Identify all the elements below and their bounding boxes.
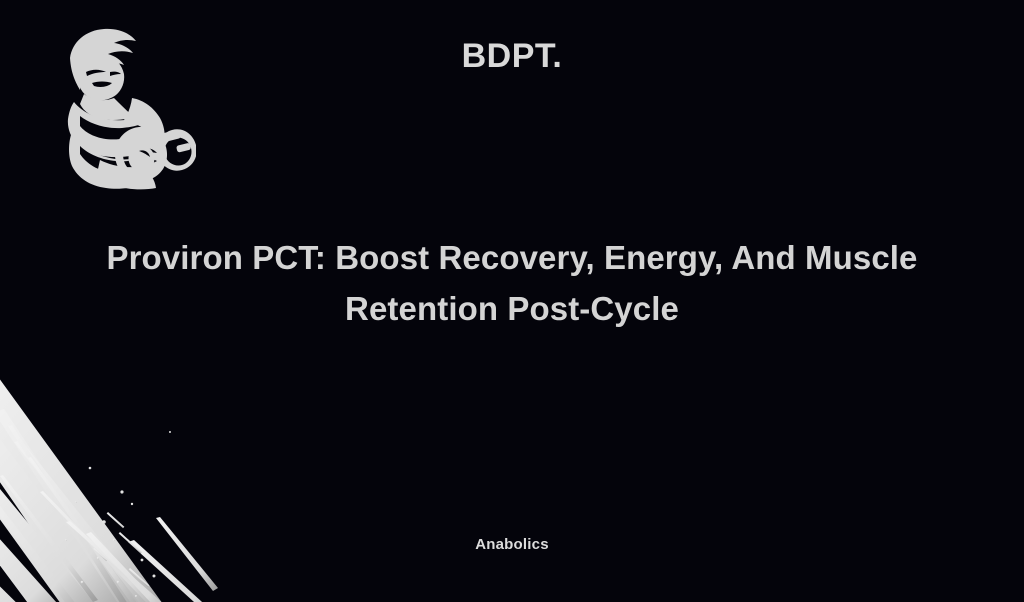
brand-title: BDPT.	[0, 36, 1024, 77]
diagonal-grunge-streaks	[0, 372, 300, 602]
category-label: Anabolics	[0, 536, 1024, 553]
title-slide: BDPT. Proviron PCT: Boost Recovery, Ener…	[0, 0, 1024, 602]
page-title: Proviron PCT: Boost Recovery, Energy, An…	[28, 232, 996, 334]
